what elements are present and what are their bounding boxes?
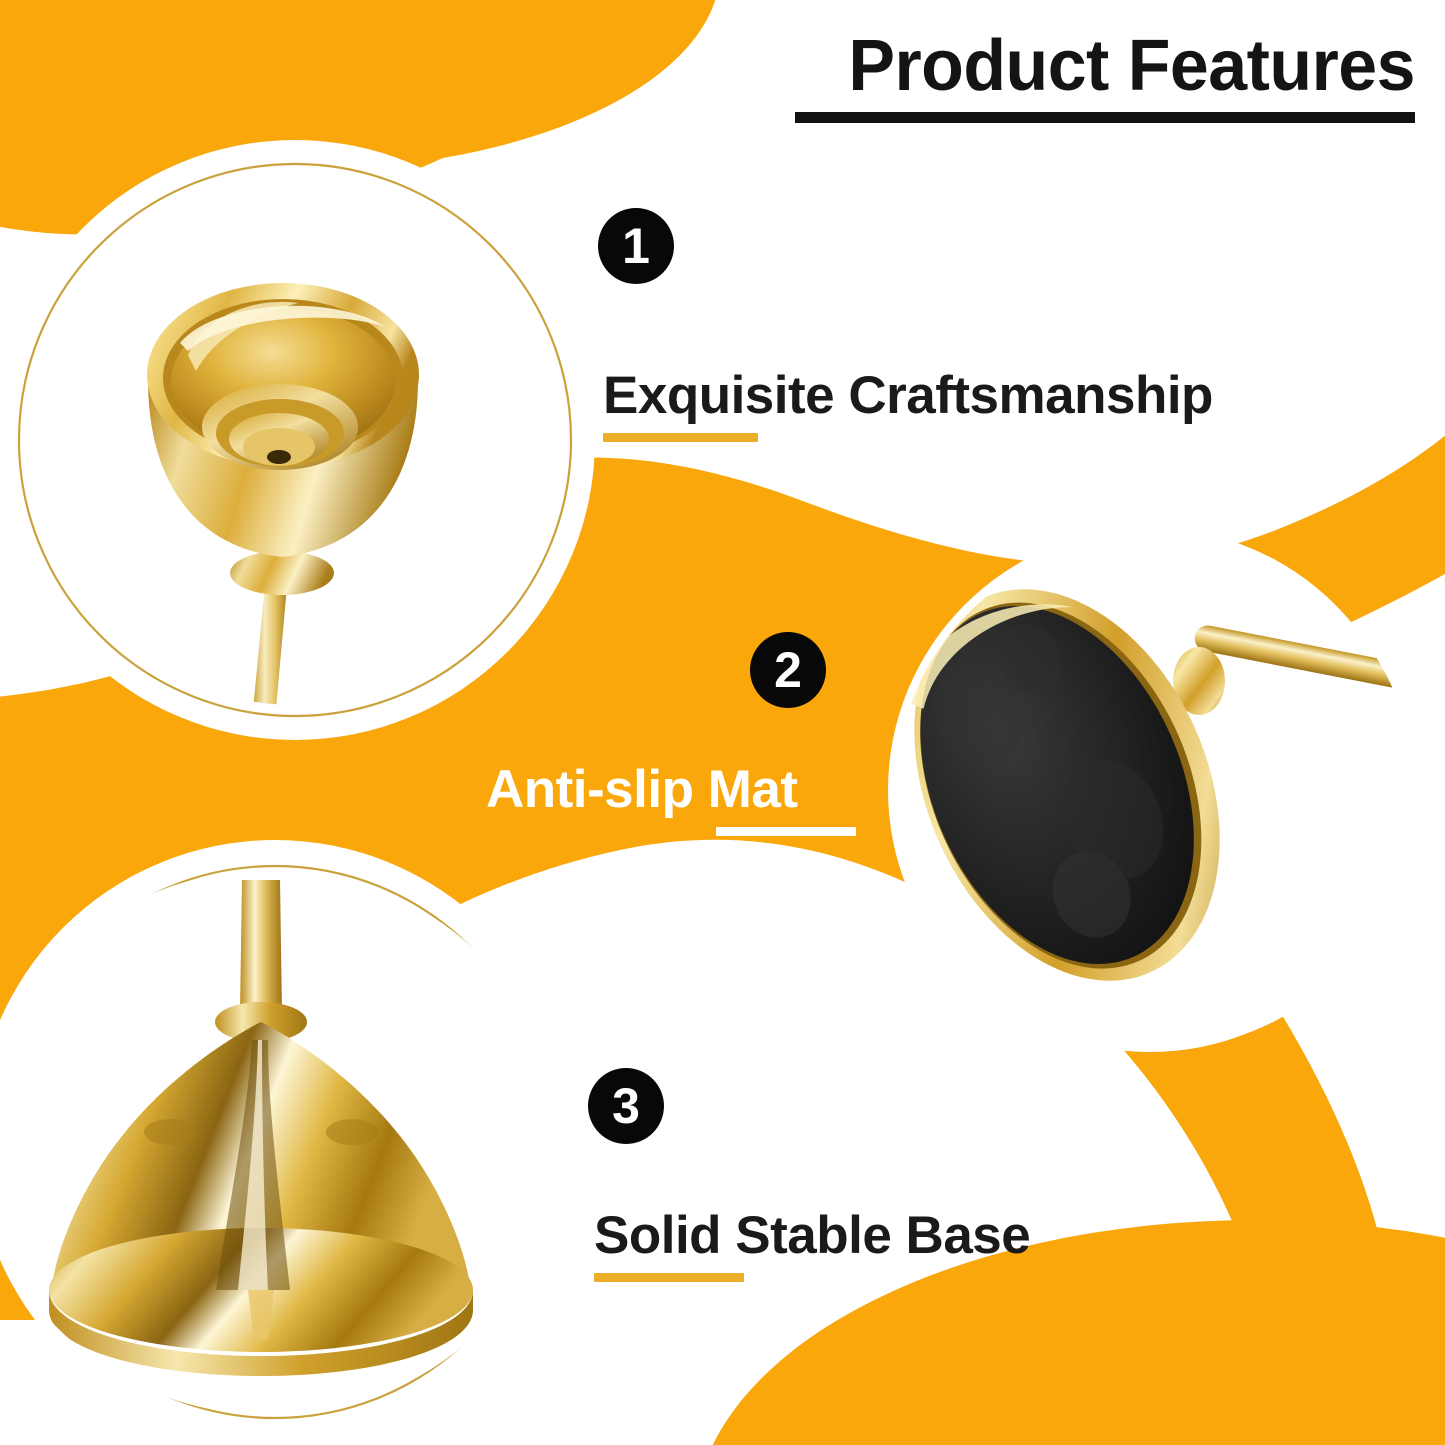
feature-label-3-accent (594, 1273, 744, 1282)
feature-label-1: Exquisite Craftsmanship (603, 368, 1213, 442)
feature-label-1-accent (603, 433, 758, 442)
page-title: Product Features (814, 30, 1415, 102)
candle-cup-illustration (30, 175, 560, 705)
feature-label-3-text: Solid Stable Base (594, 1208, 1030, 1264)
candle-cup-photo (30, 175, 560, 705)
feature-label-1-text: Exquisite Craftsmanship (603, 368, 1213, 424)
feature-badge-1-number: 1 (622, 221, 650, 271)
feature-label-3: Solid Stable Base (594, 1208, 1030, 1282)
top-left-orange-ellipse (0, 0, 720, 170)
feature-label-2-accent (716, 827, 856, 836)
stable-base-illustration (0, 870, 560, 1415)
feature-badge-2: 2 (750, 632, 826, 708)
feature-label-2-text: Anti-slip Mat (486, 762, 856, 818)
feature-badge-3: 3 (588, 1068, 664, 1144)
feature-badge-1: 1 (598, 208, 674, 284)
stable-base-photo (0, 870, 560, 1415)
title-underline-rule (795, 112, 1415, 123)
anti-slip-mat-illustration (895, 535, 1415, 1050)
anti-slip-mat-photo (895, 535, 1415, 1050)
feature-label-2: Anti-slip Mat (486, 762, 856, 836)
infographic-canvas: Product Features 1 Exquisite Craftsmansh… (0, 0, 1445, 1445)
feature-badge-2-number: 2 (774, 645, 802, 695)
page-title-block: Product Features (795, 30, 1415, 123)
feature-badge-3-number: 3 (612, 1081, 640, 1131)
